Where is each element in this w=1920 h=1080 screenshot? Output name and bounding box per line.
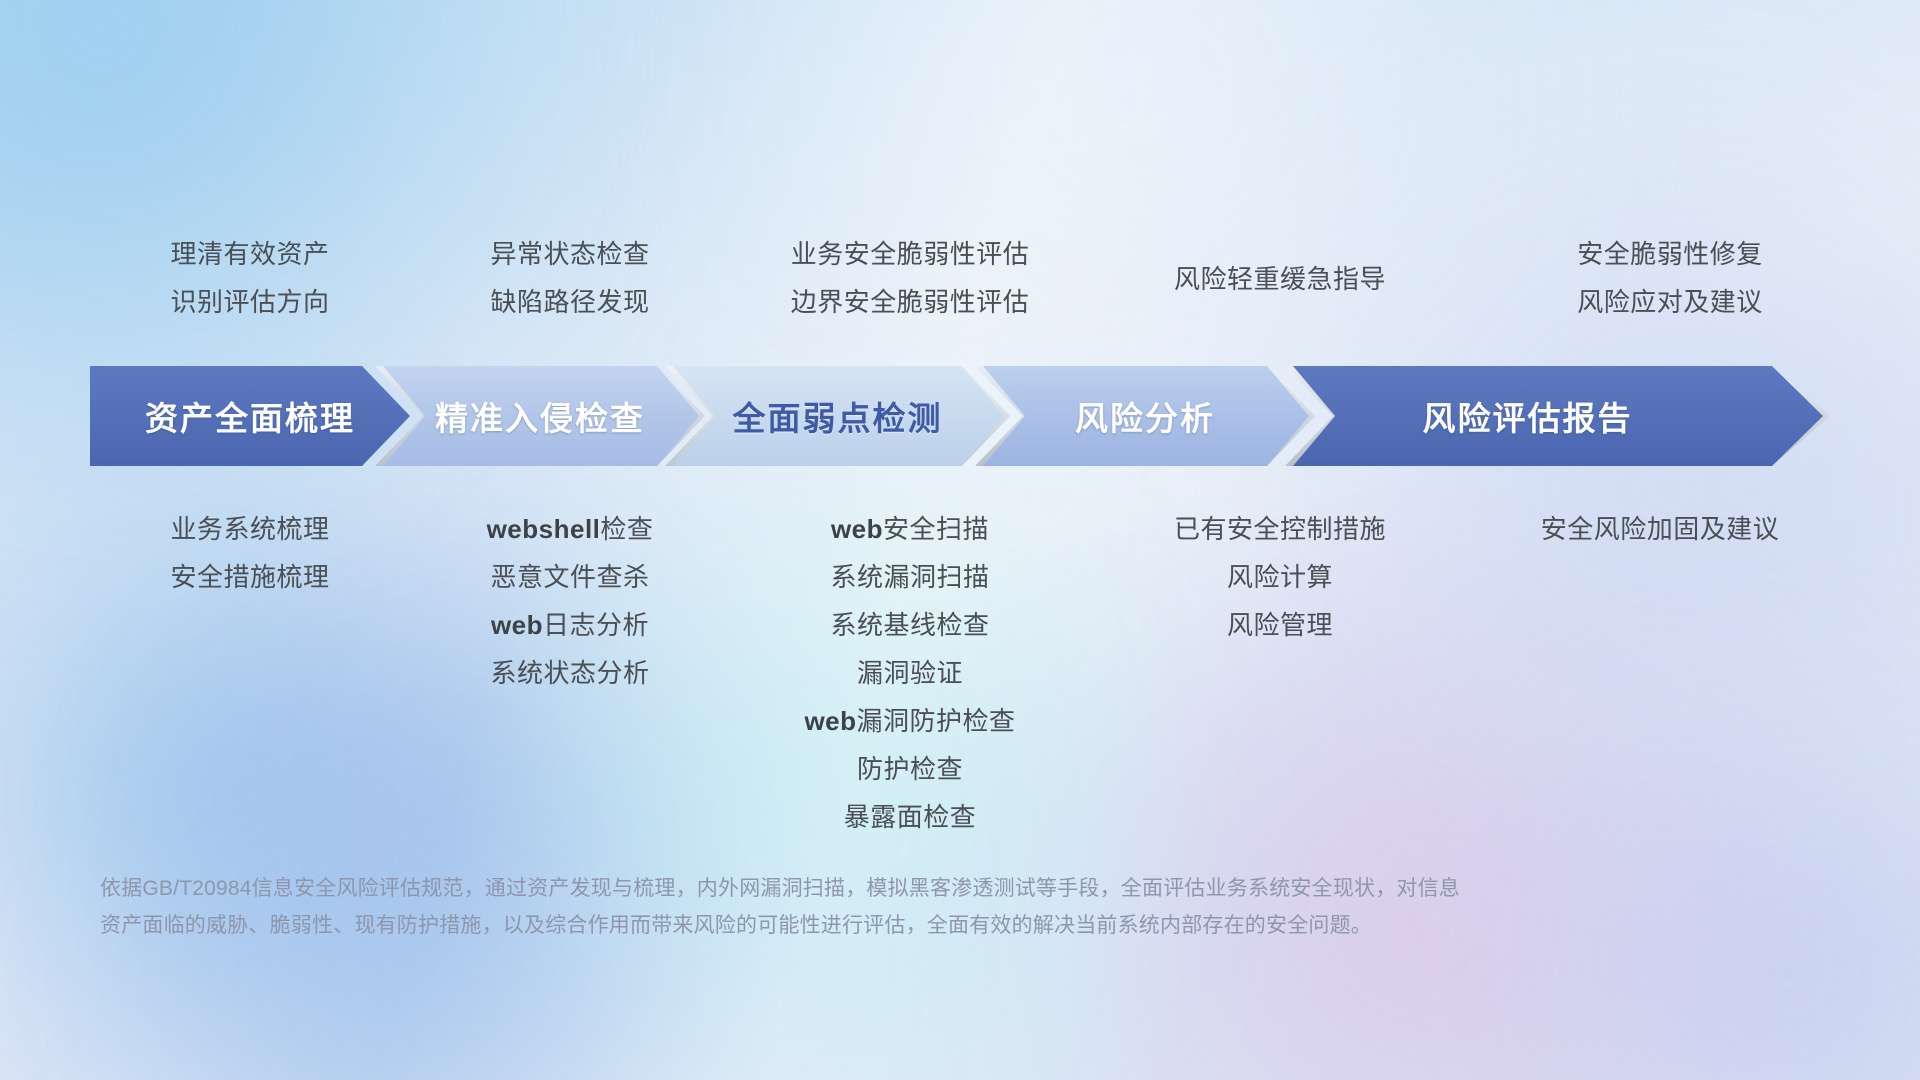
bottom-item: 已有安全控制措施 xyxy=(1075,505,1485,553)
bottom-item: 风险计算 xyxy=(1075,553,1485,601)
stage-bottom-items-risk-analysis: 已有安全控制措施 风险计算 风险管理 xyxy=(1075,505,1485,649)
bottom-item: 防护检查 xyxy=(700,745,1120,793)
stage-label: 风险评估报告 xyxy=(1423,392,1633,440)
top-item: 风险应对及建议 xyxy=(1460,278,1880,326)
stage-label: 精准入侵检查 xyxy=(435,392,645,440)
bottom-item: 安全风险加固及建议 xyxy=(1440,505,1880,553)
bottom-item: web漏洞防护检查 xyxy=(700,697,1120,745)
stage-label: 资产全面梳理 xyxy=(145,392,355,440)
stage-top-items-weakness-detection: 业务安全脆弱性评估 边界安全脆弱性评估 xyxy=(700,230,1120,326)
top-item: 业务安全脆弱性评估 xyxy=(700,230,1120,278)
footnote: 依据GB/T20984信息安全风险评估规范，通过资产发现与梳理，内外网漏洞扫描，… xyxy=(100,870,1630,944)
process-diagram: 理清有效资产 识别评估方向 异常状态检查 缺陷路径发现 业务安全脆弱性评估 边界… xyxy=(0,0,1920,1080)
bottom-item: 系统漏洞扫描 xyxy=(700,553,1120,601)
bottom-item: 漏洞验证 xyxy=(700,649,1120,697)
top-item: 风险轻重缓急指导 xyxy=(1075,255,1485,303)
bottom-item: 暴露面检查 xyxy=(700,793,1120,841)
stage-label: 风险分析 xyxy=(1075,392,1215,440)
bottom-item: 风险管理 xyxy=(1075,601,1485,649)
stage-chevron-risk-analysis[interactable]: 风险分析 xyxy=(975,366,1315,466)
stage-chevron-asset-inventory[interactable]: 资产全面梳理 xyxy=(90,366,410,466)
stage-label: 全面弱点检测 xyxy=(733,392,943,440)
stage-chevron-intrusion-check[interactable]: 精准入侵检查 xyxy=(375,366,705,466)
bottom-item: web安全扫描 xyxy=(700,505,1120,553)
stage-bottom-items-risk-report: 安全风险加固及建议 xyxy=(1440,505,1880,553)
slide-canvas: 理清有效资产 识别评估方向 异常状态检查 缺陷路径发现 业务安全脆弱性评估 边界… xyxy=(0,0,1920,1080)
footnote-line: 依据GB/T20984信息安全风险评估规范，通过资产发现与梳理，内外网漏洞扫描，… xyxy=(100,870,1630,907)
stage-chevron-risk-report[interactable]: 风险评估报告 xyxy=(1285,366,1830,466)
bottom-item: 系统基线检查 xyxy=(700,601,1120,649)
stage-top-items-risk-analysis: 风险轻重缓急指导 xyxy=(1075,255,1485,303)
top-item: 安全脆弱性修复 xyxy=(1460,230,1880,278)
footnote-line: 资产面临的威胁、脆弱性、现有防护措施，以及综合作用而带来风险的可能性进行评估，全… xyxy=(100,907,1630,944)
process-chevron-band: 资产全面梳理 xyxy=(0,366,1920,466)
stage-chevron-weakness-detection[interactable]: 全面弱点检测 xyxy=(665,366,1010,466)
stage-top-items-risk-report: 安全脆弱性修复 风险应对及建议 xyxy=(1460,230,1880,326)
top-item: 边界安全脆弱性评估 xyxy=(700,278,1120,326)
stage-bottom-items-weakness-detection: web安全扫描 系统漏洞扫描 系统基线检查 漏洞验证 web漏洞防护检查 防护检… xyxy=(700,505,1120,841)
